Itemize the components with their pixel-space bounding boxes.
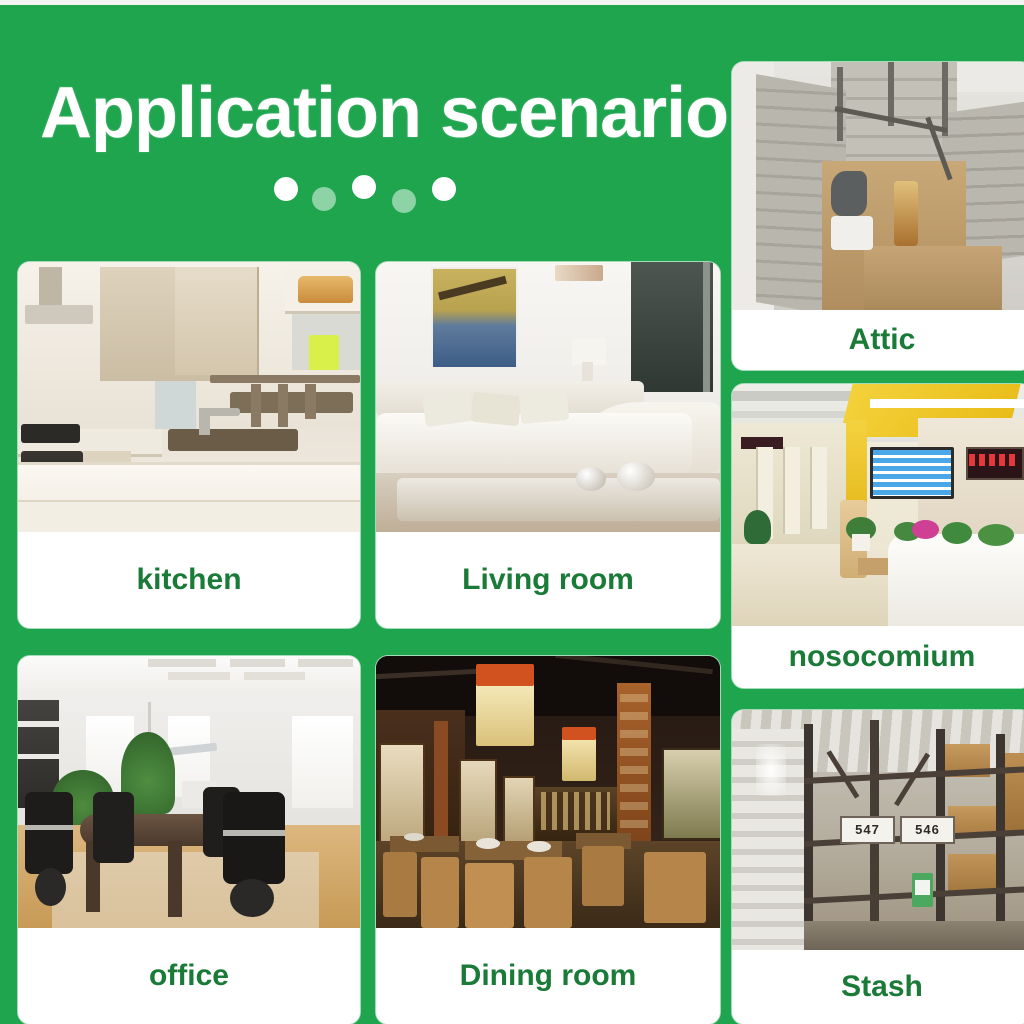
scenario-card-attic[interactable]: Attic xyxy=(732,62,1024,370)
scenario-card-office[interactable]: office xyxy=(18,656,360,1024)
dining-room-photo xyxy=(376,656,720,928)
stash-caption: Stash xyxy=(732,950,1024,1024)
page-title: Application scenario xyxy=(40,77,728,149)
dot-1-icon xyxy=(274,177,298,201)
dot-4-icon xyxy=(392,189,416,213)
scenario-card-dining-room[interactable]: Dining room xyxy=(376,656,720,1024)
dot-5-icon xyxy=(432,177,456,201)
scenario-card-kitchen[interactable]: kitchen xyxy=(18,262,360,628)
application-scenario-banner: Application scenario kitchen xyxy=(0,0,1024,1024)
kitchen-photo xyxy=(18,262,360,532)
scenario-card-living-room[interactable]: Living room xyxy=(376,262,720,628)
shelf-sign-546-text: 546 xyxy=(915,822,940,837)
dot-2-icon xyxy=(312,187,336,211)
scenario-card-nosocomium[interactable]: nosocomium xyxy=(732,384,1024,688)
living-room-photo xyxy=(376,262,720,532)
shelf-sign-547-text: 547 xyxy=(855,822,880,837)
living-room-caption: Living room xyxy=(376,532,720,628)
decorative-dots xyxy=(270,173,470,219)
shelf-sign-546: 546 xyxy=(900,816,955,844)
kitchen-caption: kitchen xyxy=(18,532,360,628)
office-caption: office xyxy=(18,928,360,1024)
stash-photo: 547 546 xyxy=(732,710,1024,950)
shelf-sign-547: 547 xyxy=(840,816,895,844)
dot-3-icon xyxy=(352,175,376,199)
attic-caption: Attic xyxy=(732,310,1024,370)
nosocomium-photo xyxy=(732,384,1024,626)
scenario-card-stash[interactable]: 547 546 Stash xyxy=(732,710,1024,1024)
dining-room-caption: Dining room xyxy=(376,928,720,1024)
nosocomium-caption: nosocomium xyxy=(732,626,1024,688)
office-photo xyxy=(18,656,360,928)
attic-photo xyxy=(732,62,1024,310)
